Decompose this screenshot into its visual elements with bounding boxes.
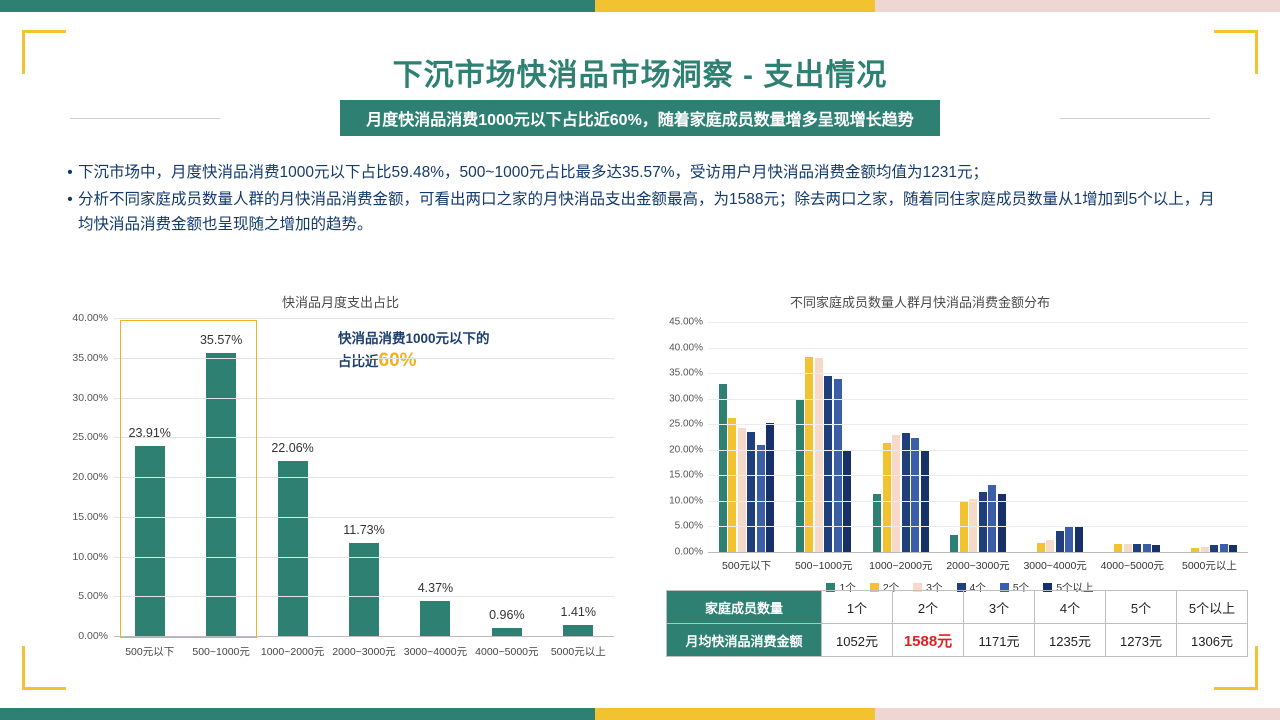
y-tick-label: 0.00% <box>675 547 703 558</box>
bar <box>278 461 308 636</box>
x-tick-label: 1000~2000元 <box>253 644 333 659</box>
chart-right-title: 不同家庭成员数量人群月快消品消费金额分布 <box>790 292 1050 311</box>
bottom-bar-teal <box>0 708 595 720</box>
table-col-header: 5个以上 <box>1177 591 1248 624</box>
bar <box>1220 544 1228 552</box>
y-tick-label: 5.00% <box>78 590 108 602</box>
highlight-box <box>120 320 257 638</box>
bar <box>1133 544 1141 552</box>
chart-left-title: 快消品月度支出占比 <box>282 292 399 311</box>
y-tick-label: 40.00% <box>72 312 108 324</box>
page-subtitle: 月度快消品消费1000元以下占比近60%，随着家庭成员数量增多呈现增长趋势 <box>340 100 940 136</box>
chart-right-y-axis: 0.00%5.00%10.00%15.00%20.00%25.00%30.00%… <box>660 322 706 552</box>
x-tick-label: 3000~4000元 <box>395 644 475 659</box>
bar <box>873 494 881 552</box>
bar <box>902 433 910 552</box>
top-bar-yellow <box>595 0 875 12</box>
y-tick-label: 10.00% <box>669 495 703 506</box>
chart-monthly-spend-share: 快消品月度支出占比 快消品消费1000元以下的 占比近60% 0.00%5.00… <box>62 292 622 672</box>
table-col-header: 3个 <box>964 591 1035 624</box>
bullet-dot-icon: • <box>62 187 78 237</box>
y-tick-label: 25.00% <box>669 419 703 430</box>
table-col-header: 1个 <box>822 591 893 624</box>
bar <box>1143 544 1151 552</box>
table-cell: 1273元 <box>1106 624 1177 657</box>
bottom-bar-yellow <box>595 708 875 720</box>
gridline <box>708 450 1248 451</box>
bar <box>1056 531 1064 552</box>
gridline <box>708 373 1248 374</box>
bar <box>969 499 977 552</box>
bar <box>1114 544 1122 552</box>
bar <box>805 357 813 552</box>
table-col-header: 2个 <box>893 591 964 624</box>
bottom-decor-bar <box>0 708 1280 720</box>
y-tick-label: 10.00% <box>72 551 108 563</box>
x-tick-label: 2000~3000元 <box>324 644 404 659</box>
bar <box>815 358 823 552</box>
table-col-header: 4个 <box>1035 591 1106 624</box>
y-tick-label: 35.00% <box>669 368 703 379</box>
top-decor-bar <box>0 0 1280 12</box>
chart-family-size-distribution: 不同家庭成员数量人群月快消品消费金额分布 0.00%5.00%10.00%15.… <box>660 292 1260 592</box>
gridline <box>708 322 1248 323</box>
y-tick-label: 35.00% <box>72 352 108 364</box>
y-tick-label: 0.00% <box>78 630 108 642</box>
table-row-header: 月均快消品消费金额 <box>667 624 822 657</box>
gridline <box>708 526 1248 527</box>
subtitle-container: 月度快消品消费1000元以下占比近60%，随着家庭成员数量增多呈现增长趋势 <box>0 100 1280 136</box>
bar <box>492 628 522 636</box>
x-tick-label: 5000元以上 <box>1164 558 1254 573</box>
bar <box>1046 540 1054 552</box>
bar-value-label: 1.41% <box>538 605 618 619</box>
bar <box>1124 544 1132 552</box>
bar <box>911 438 919 552</box>
bar <box>1065 526 1073 552</box>
bar-value-label: 22.06% <box>253 441 333 455</box>
y-tick-label: 45.00% <box>669 317 703 328</box>
bar-value-label: 0.96% <box>467 608 547 622</box>
gridline <box>708 348 1248 349</box>
y-tick-label: 15.00% <box>669 470 703 481</box>
list-item: • 下沉市场中，月度快消品消费1000元以下占比59.48%，500~1000元… <box>62 160 1222 185</box>
bar-value-label: 4.37% <box>395 581 475 595</box>
y-tick-label: 25.00% <box>72 431 108 443</box>
gridline <box>114 318 614 319</box>
chart-right-plot-area <box>708 322 1248 552</box>
bar <box>563 625 593 636</box>
bar <box>1037 543 1045 552</box>
y-tick-label: 5.00% <box>675 521 703 532</box>
bar <box>988 485 996 552</box>
top-bar-pink <box>875 0 1280 12</box>
x-tick-label: 5000元以上 <box>538 644 618 659</box>
bar <box>738 428 746 552</box>
bar <box>998 494 1006 552</box>
page-title: 下沉市场快消品市场洞察 - 支出情况 <box>0 50 1280 94</box>
x-tick-label: 500~1000元 <box>181 644 261 659</box>
bar <box>420 601 450 636</box>
bar <box>728 418 736 552</box>
bottom-bar-pink <box>875 708 1280 720</box>
bullet-dot-icon: • <box>62 160 78 185</box>
bullet-text: 分析不同家庭成员数量人群的月快消品消费金额，可看出两口之家的月快消品支出金额最高… <box>78 187 1222 237</box>
bar <box>1152 545 1160 552</box>
bar <box>766 423 774 552</box>
bar <box>1210 545 1218 552</box>
y-tick-label: 20.00% <box>669 444 703 455</box>
bar <box>892 435 900 552</box>
bar <box>883 443 891 552</box>
list-item: • 分析不同家庭成员数量人群的月快消品消费金额，可看出两口之家的月快消品支出金额… <box>62 187 1222 237</box>
table-cell: 1235元 <box>1035 624 1106 657</box>
bar-value-label: 11.73% <box>324 523 404 537</box>
y-tick-label: 30.00% <box>669 393 703 404</box>
bullet-list: • 下沉市场中，月度快消品消费1000元以下占比59.48%，500~1000元… <box>62 160 1222 239</box>
gridline <box>708 475 1248 476</box>
chart-left-y-axis: 0.00%5.00%10.00%15.00%20.00%25.00%30.00%… <box>62 318 112 636</box>
table-row: 家庭成员数量 1个 2个 3个 4个 5个 5个以上 <box>667 591 1248 624</box>
gridline <box>708 424 1248 425</box>
table-row-header: 家庭成员数量 <box>667 591 822 624</box>
table-col-header: 5个 <box>1106 591 1177 624</box>
bar <box>1075 527 1083 552</box>
y-tick-label: 30.00% <box>72 392 108 404</box>
x-axis-line <box>708 552 1248 553</box>
gridline <box>708 501 1248 502</box>
y-tick-label: 40.00% <box>669 342 703 353</box>
family-spend-table: 家庭成员数量 1个 2个 3个 4个 5个 5个以上 月均快消品消费金额 105… <box>666 590 1248 657</box>
table-cell-highlight: 1588元 <box>893 624 964 657</box>
corner-mark-bottom-left <box>22 646 66 690</box>
gridline <box>708 399 1248 400</box>
bar <box>757 445 765 552</box>
bullet-text: 下沉市场中，月度快消品消费1000元以下占比59.48%，500~1000元占比… <box>78 160 1222 185</box>
y-tick-label: 20.00% <box>72 471 108 483</box>
y-tick-label: 15.00% <box>72 511 108 523</box>
x-tick-label: 500元以下 <box>110 644 190 659</box>
bar <box>950 535 958 552</box>
table-cell: 1306元 <box>1177 624 1248 657</box>
table-cell: 1171元 <box>964 624 1035 657</box>
table-cell: 1052元 <box>822 624 893 657</box>
table-row: 月均快消品消费金额 1052元 1588元 1171元 1235元 1273元 … <box>667 624 1248 657</box>
top-bar-teal <box>0 0 595 12</box>
bar <box>1229 545 1237 552</box>
x-tick-label: 4000~5000元 <box>467 644 547 659</box>
